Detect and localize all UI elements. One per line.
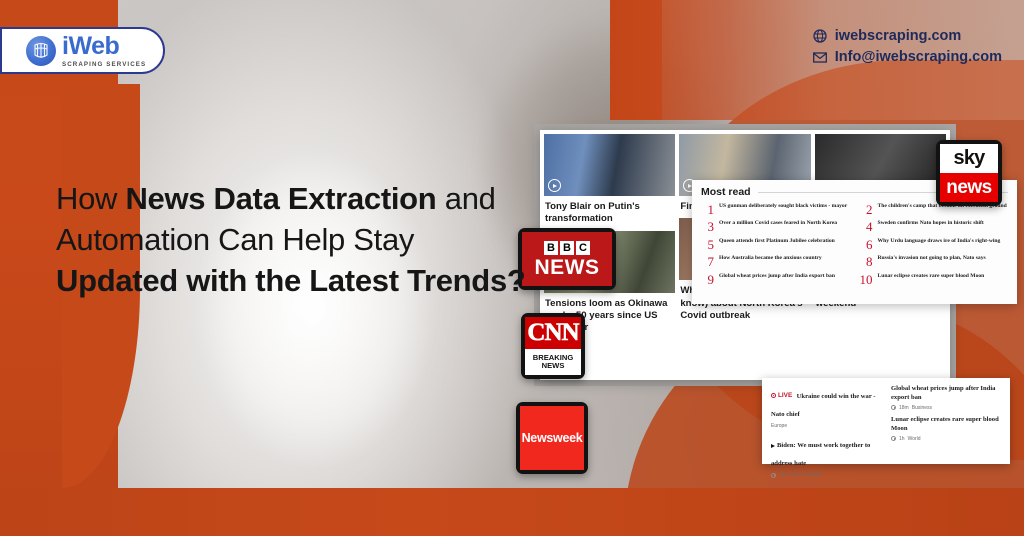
- news-meta: 18mBusiness: [891, 405, 1001, 411]
- list-item-label: How Australia became the anxious country: [719, 255, 822, 263]
- cnn-tile[interactable]: CNN BREAKING NEWS: [521, 313, 585, 379]
- bbc-news-word: NEWS: [535, 257, 600, 278]
- news-headline[interactable]: Lunar eclipse creates rare super blood M…: [891, 416, 1001, 434]
- sky-wordmark: sky: [954, 147, 985, 170]
- bbc-letter: B: [560, 241, 574, 255]
- logo-wordmark: iWeb: [62, 34, 146, 59]
- sky-logo-top: sky: [940, 144, 998, 173]
- clock-icon: [771, 473, 776, 478]
- news-meta: 12hUS & Canada: [771, 472, 881, 478]
- contact-website[interactable]: iwebscraping.com: [813, 28, 1002, 44]
- rank-number: 5: [701, 238, 714, 252]
- rank-number: 6: [860, 238, 873, 252]
- contact-email-text: Info@iwebscraping.com: [835, 49, 1002, 65]
- news-section: Business: [912, 405, 932, 411]
- brand-logo[interactable]: iWeb SCRAPING SERVICES: [0, 27, 165, 74]
- list-item[interactable]: 8Russia's invasion not going to plan, Na…: [860, 254, 1009, 271]
- rank-number: 8: [860, 255, 873, 269]
- list-item[interactable]: 7How Australia became the anxious countr…: [701, 254, 850, 271]
- news-time: 18m: [899, 405, 909, 411]
- bbc-letter: C: [576, 241, 590, 255]
- globe-icon: [813, 29, 827, 43]
- clock-icon: [891, 436, 896, 441]
- sky-logo-bottom: news: [940, 173, 998, 202]
- list-item-label: US gunman deliberately sought black vict…: [719, 203, 847, 211]
- list-item[interactable]: 4Sweden confirms Nato hopes in historic …: [860, 219, 1009, 236]
- news-meta: Europe: [771, 423, 881, 429]
- play-icon: [548, 179, 561, 192]
- cnn-breaking-area: BREAKING NEWS: [525, 349, 581, 375]
- newsweek-tile[interactable]: Newsweek: [516, 402, 588, 474]
- list-item-label: Global wheat prices jump after India exp…: [719, 273, 835, 281]
- rank-number: 9: [701, 273, 714, 287]
- contact-website-text: iwebscraping.com: [835, 28, 962, 44]
- web-globe-icon: [26, 36, 56, 66]
- newsweek-wordmark: Newsweek: [522, 431, 583, 445]
- live-badge: LIVE: [771, 392, 792, 399]
- list-item-label: Over a million Covid cases feared in Nor…: [719, 220, 837, 228]
- contact-email[interactable]: Info@iwebscraping.com: [813, 49, 1002, 65]
- rank-number: 4: [860, 220, 873, 234]
- news-item[interactable]: LIVE Ukraine could win the war - Nato ch…: [771, 385, 881, 421]
- news-headline[interactable]: Tony Blair on Putin's transformation: [544, 199, 675, 228]
- headline-bold-2: Updated with the Latest Trends?: [56, 263, 526, 298]
- news-time: 12h: [779, 472, 787, 478]
- news-section: World: [908, 436, 921, 442]
- list-item-label: Queen attends first Platinum Jubilee cel…: [719, 238, 835, 246]
- bbc-letter: B: [544, 241, 558, 255]
- latest-news-column-right: Global wheat prices jump after India exp…: [891, 385, 1001, 481]
- page-title: How News Data Extraction and Automation …: [56, 178, 526, 302]
- cnn-wordmark: CNN: [527, 319, 578, 347]
- latest-news-card: LIVE Ukraine could win the war - Nato ch…: [762, 378, 1010, 464]
- most-read-list: 1US gunman deliberately sought black vic…: [701, 201, 1008, 288]
- news-section: US & Canada: [790, 472, 821, 478]
- headline-part-1: How: [56, 181, 125, 216]
- news-meta: 1hWorld: [891, 436, 1001, 442]
- orange-band-bottom: [0, 488, 1024, 536]
- bbc-news-tile[interactable]: B B C NEWS: [518, 228, 616, 290]
- list-item[interactable]: 9Global wheat prices jump after India ex…: [701, 272, 850, 289]
- news-headline: Biden: We must work together to address …: [771, 442, 870, 467]
- live-dot-icon: [771, 393, 776, 398]
- rank-number: 7: [701, 255, 714, 269]
- list-item[interactable]: 3Over a million Covid cases feared in No…: [701, 219, 850, 236]
- cnn-logo-area: CNN: [525, 317, 581, 349]
- headline-bold-1: News Data Extraction: [125, 181, 436, 216]
- list-item-label: Sweden confirms Nato hopes in historic s…: [878, 220, 984, 228]
- clock-icon: [891, 405, 896, 410]
- mail-icon: [813, 51, 827, 64]
- rank-number: 2: [860, 203, 873, 217]
- sky-news-tile[interactable]: sky news: [936, 140, 1002, 206]
- news-section: Europe: [771, 423, 787, 429]
- news-item[interactable]: Biden: We must work together to address …: [771, 434, 881, 470]
- contact-block: iwebscraping.com Info@iwebscraping.com: [813, 28, 1002, 65]
- cnn-breaking-line2: NEWS: [542, 362, 565, 370]
- rank-number: 1: [701, 203, 714, 217]
- news-headline[interactable]: Global wheat prices jump after India exp…: [891, 385, 1001, 403]
- sky-news-wordmark: news: [946, 177, 992, 199]
- list-item-label: Lunar eclipse creates rare super blood M…: [878, 273, 985, 281]
- list-item-label: Russia's invasion not going to plan, Nat…: [878, 255, 986, 263]
- list-item[interactable]: 1US gunman deliberately sought black vic…: [701, 201, 850, 218]
- list-item-label: Why Urdu language draws ire of India's r…: [878, 238, 1001, 246]
- news-thumbnail[interactable]: [544, 134, 675, 196]
- list-item[interactable]: 10Lunar eclipse creates rare super blood…: [860, 272, 1009, 289]
- rank-number: 3: [701, 220, 714, 234]
- play-icon: [771, 444, 775, 448]
- list-item[interactable]: 5Queen attends first Platinum Jubilee ce…: [701, 236, 850, 253]
- latest-news-column-left: LIVE Ukraine could win the war - Nato ch…: [771, 385, 881, 481]
- logo-tagline: SCRAPING SERVICES: [62, 61, 146, 68]
- poster-canvas: iWeb SCRAPING SERVICES iwebscraping.com …: [0, 0, 1024, 536]
- bbc-letter-boxes: B B C: [544, 241, 590, 255]
- live-label: LIVE: [778, 392, 792, 399]
- most-read-title: Most read: [701, 186, 751, 198]
- rank-number: 10: [860, 273, 873, 287]
- list-item[interactable]: 6Why Urdu language draws ire of India's …: [860, 236, 1009, 253]
- news-time: 1h: [899, 436, 905, 442]
